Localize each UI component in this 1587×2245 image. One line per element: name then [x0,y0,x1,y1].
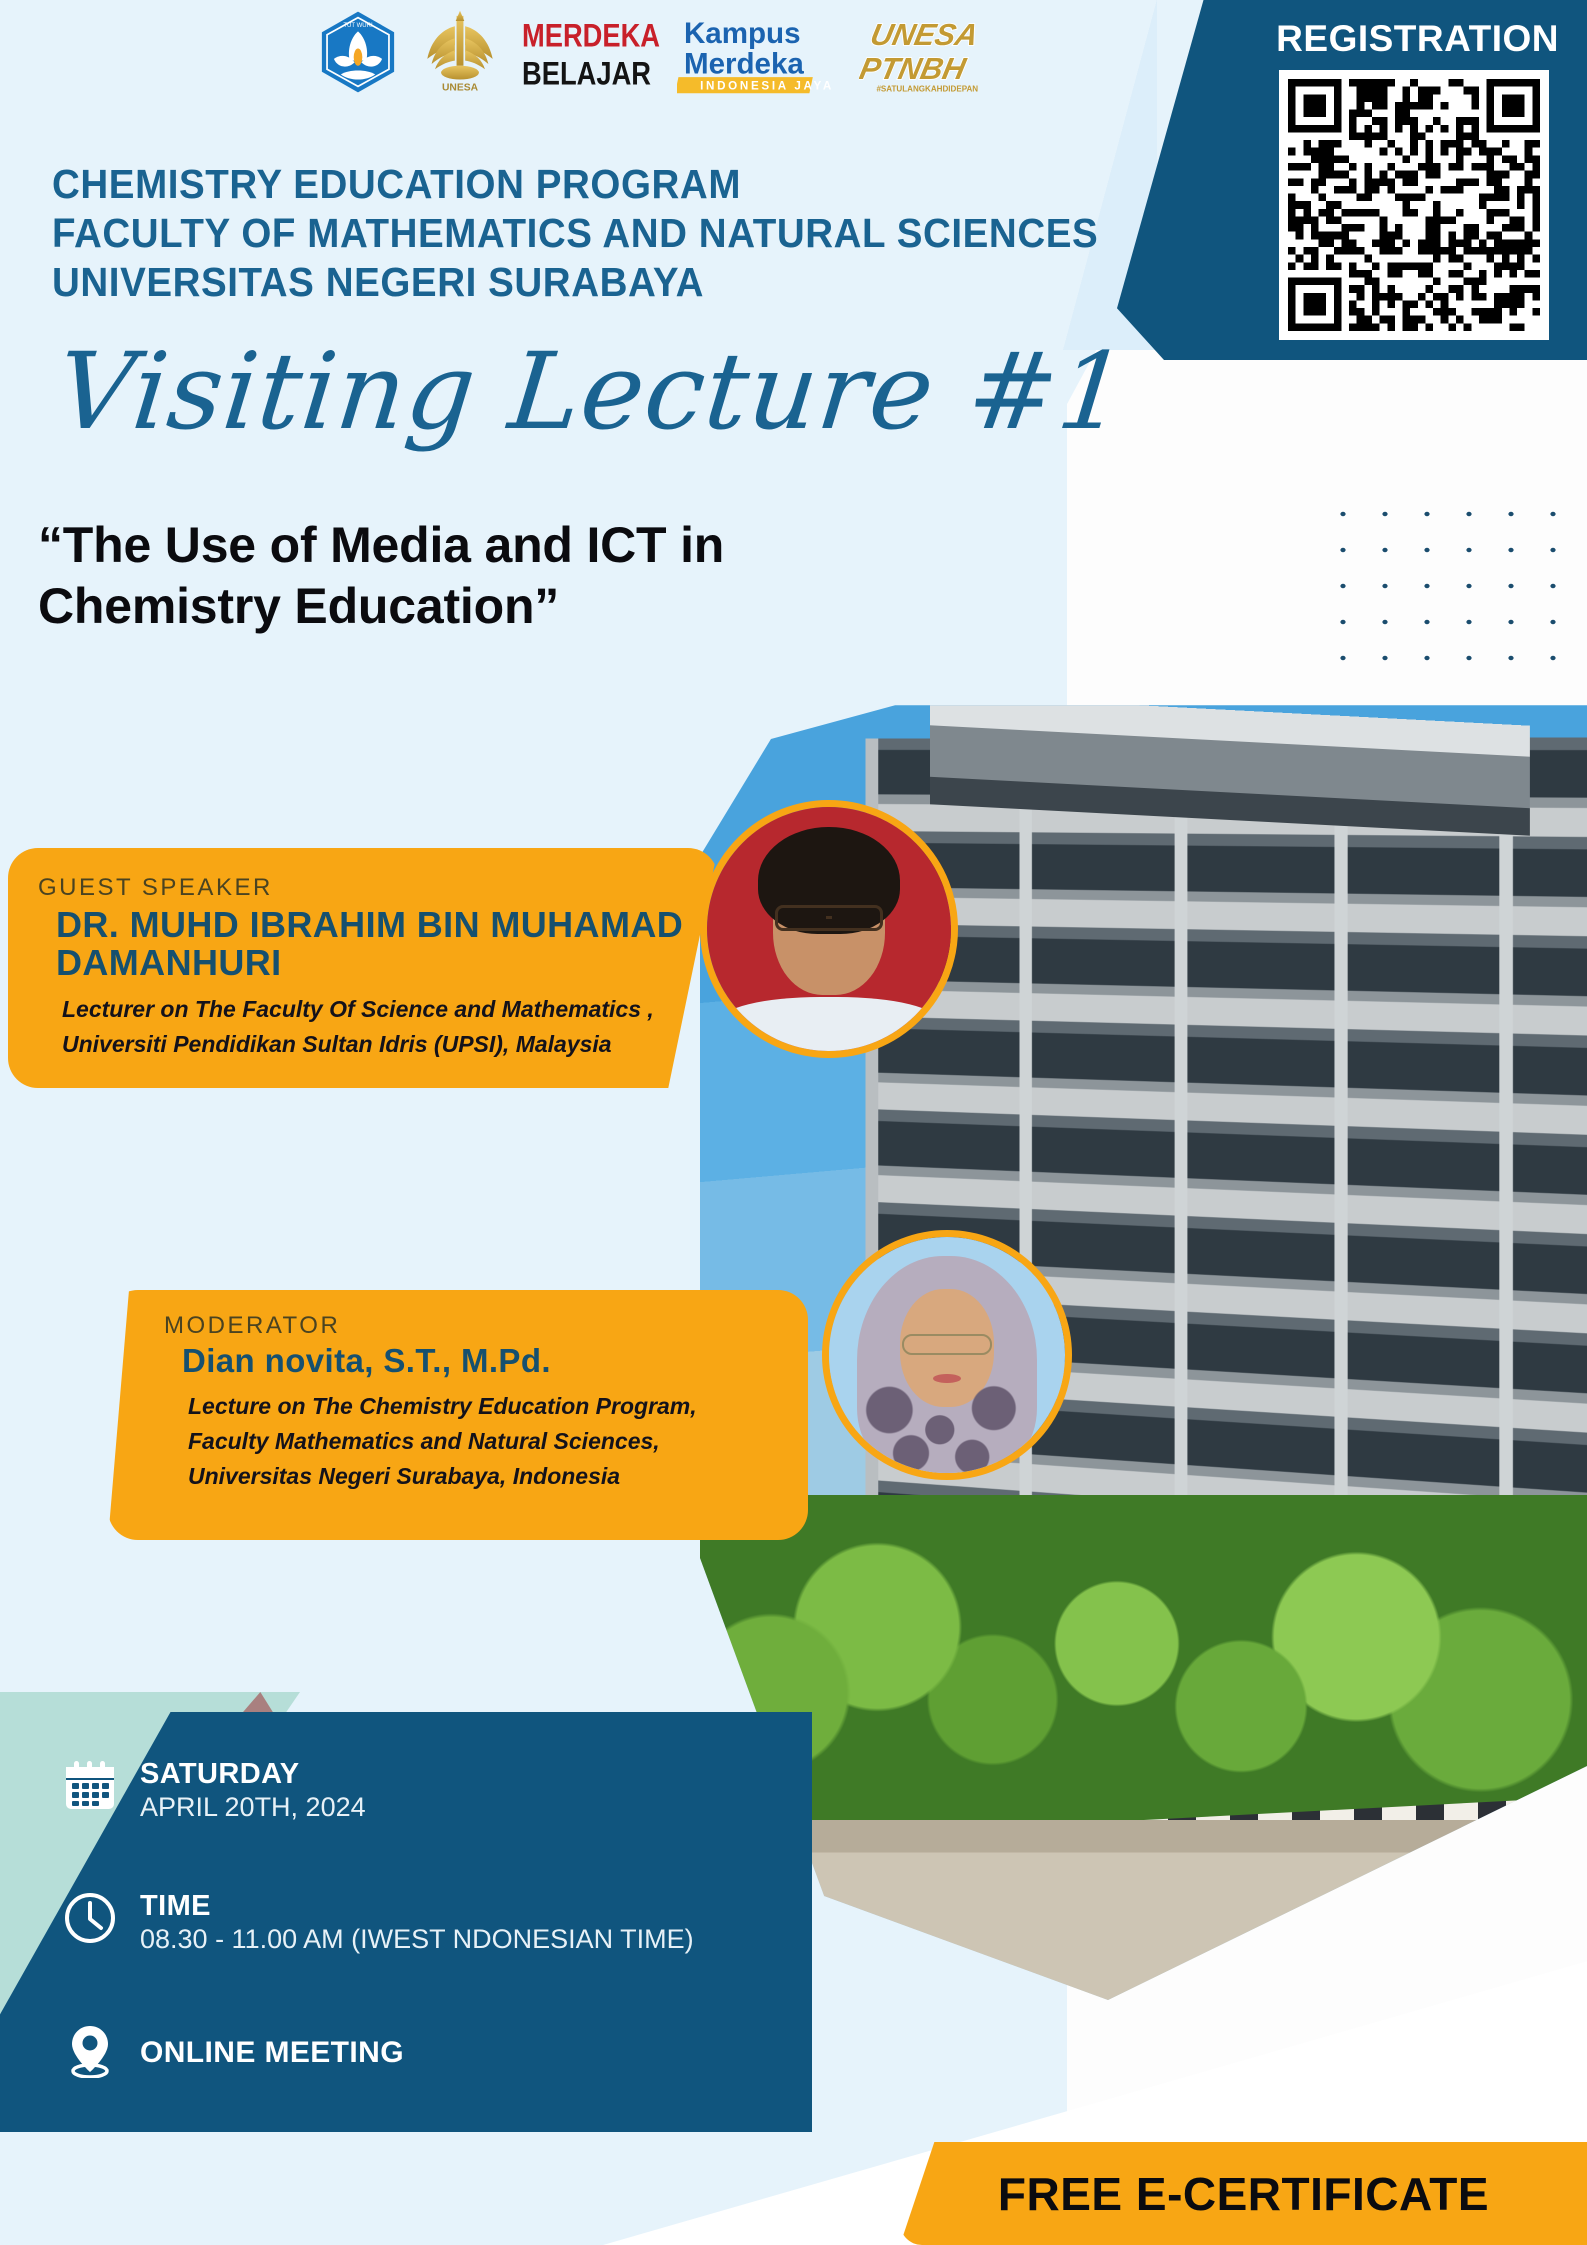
clock-icon [62,1890,118,1946]
calendar-icon [62,1758,118,1814]
merdeka-belajar-logo: MERDEKA BELAJAR [519,9,663,95]
moderator-role-label: MODERATOR [164,1312,778,1340]
event-location-label: ONLINE MEETING [140,2022,404,2070]
svg-text:INDONESIA JAYA: INDONESIA JAYA [700,80,834,93]
moderator-affiliation: Lecture on The Chemistry Education Progr… [188,1389,778,1494]
svg-text:MERDEKA: MERDEKA [522,18,660,54]
svg-text:Merdeka: Merdeka [684,48,804,81]
program-line-3: UNIVERSITAS NEGERI SURABAYA [52,258,1142,307]
guest-speaker-card: GUEST SPEAKER DR. MUHD IBRAHIM BIN MUHAM… [8,848,718,1088]
svg-text:#SATULANGKAHDIDEPAN: #SATULANGKAHDIDEPAN [876,84,978,93]
event-location-row: ONLINE MEETING [62,2022,404,2078]
guest-speaker-portrait [700,800,958,1058]
guest-speaker-role-label: GUEST SPEAKER [38,874,688,902]
free-certificate-label: FREE E-CERTIFICATE [998,2167,1489,2221]
svg-text:Kampus: Kampus [684,17,801,50]
unesa-ptnbh-logo: UNESA PTNBH #SATULANGKAHDIDEPAN [859,9,1005,95]
guest-speaker-affiliation: Lecturer on The Faculty Of Science and M… [62,992,688,1062]
event-time-value: 08.30 - 11.00 AM (IWEST NDONESIAN TIME) [140,1923,694,1957]
decorative-dot-grid [1318,492,1568,682]
registration-qr-code[interactable] [1279,70,1549,340]
registration-label: REGISTRATION [1276,18,1559,60]
event-time-row: TIME 08.30 - 11.00 AM (IWEST NDONESIAN T… [62,1890,694,1957]
event-date-label: SATURDAY [140,1758,366,1791]
program-heading: CHEMISTRY EDUCATION PROGRAM FACULTY OF M… [52,160,1142,306]
event-date-row: SATURDAY APRIL 20TH, 2024 [62,1758,366,1825]
moderator-card: MODERATOR Dian novita, S.T., M.Pd. Lectu… [108,1290,808,1540]
program-line-2: FACULTY OF MATHEMATICS AND NATURAL SCIEN… [52,209,1142,258]
tut-wuri-handayani-logo: TUT WURI [315,9,401,95]
poster-canvas: REGISTRATION TUT WURI [0,0,1587,2245]
guest-speaker-name: DR. MUHD IBRAHIM BIN MUHAMAD DAMANHURI [56,906,688,982]
svg-text:BELAJAR: BELAJAR [522,55,651,91]
program-line-1: CHEMISTRY EDUCATION PROGRAM [52,160,1142,209]
visiting-lecture-script-title: Visiting Lecture #1 [52,330,1134,453]
moderator-portrait [822,1230,1072,1480]
location-pin-icon [62,2022,118,2078]
svg-text:UNESA: UNESA [867,17,981,52]
svg-text:PTNBH: PTNBH [859,51,970,86]
event-date-value: APRIL 20TH, 2024 [140,1791,366,1825]
event-time-label: TIME [140,1890,694,1923]
lecture-theme-title: “The Use of Media and ICT in Chemistry E… [38,515,918,637]
svg-text:UNESA: UNESA [442,83,479,94]
free-certificate-banner: FREE E-CERTIFICATE [900,2142,1587,2245]
unesa-logo: UNESA [415,9,505,95]
kampus-merdeka-logo: Kampus Merdeka INDONESIA JAYA [677,9,845,95]
moderator-name: Dian novita, S.T., M.Pd. [182,1344,778,1379]
svg-text:TUT WURI: TUT WURI [343,23,373,29]
logo-strip: TUT WURI UNESA MERDEKA BELAJ [315,6,1105,98]
photo-foliage [700,1495,1587,1825]
